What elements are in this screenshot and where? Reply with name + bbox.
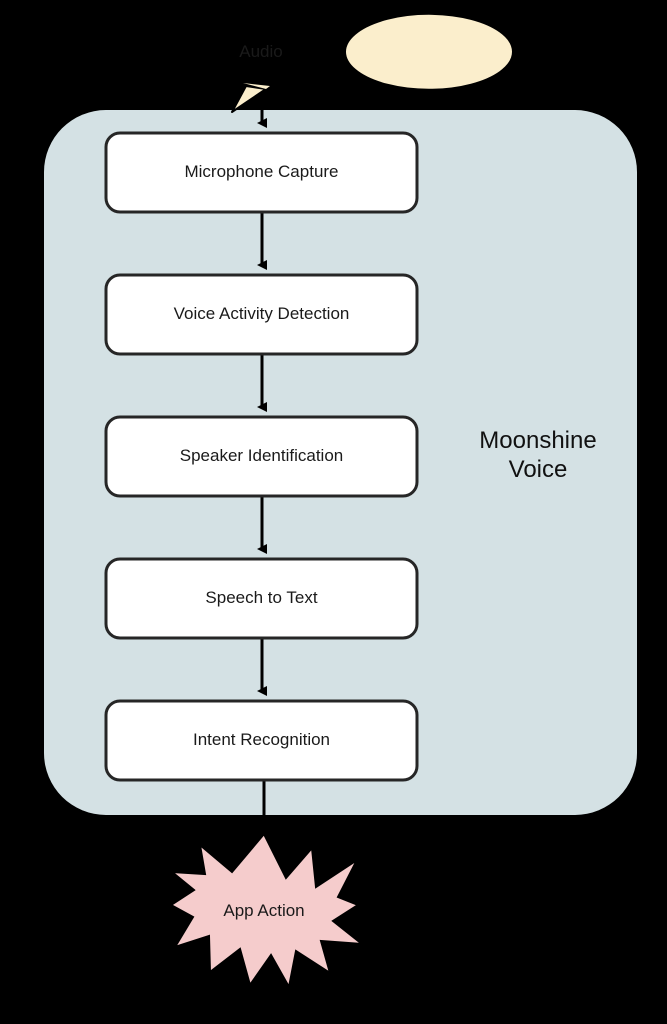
step-box-speaker-identification[interactable] [106, 417, 417, 496]
step-box-speech-to-text[interactable] [106, 559, 417, 638]
diagram-canvas: Audio Microphone Capture Voice Activity … [0, 0, 667, 1024]
diagram-svg [0, 0, 667, 1024]
step-box-intent-recognition[interactable] [106, 701, 417, 780]
audio-bubble-shape [345, 14, 513, 90]
step-box-voice-activity-detection[interactable] [106, 275, 417, 354]
node-app-action[interactable] [171, 834, 362, 987]
app-action-starburst-shape [171, 834, 362, 987]
step-box-microphone-capture[interactable] [106, 133, 417, 212]
node-audio[interactable] [232, 14, 513, 112]
